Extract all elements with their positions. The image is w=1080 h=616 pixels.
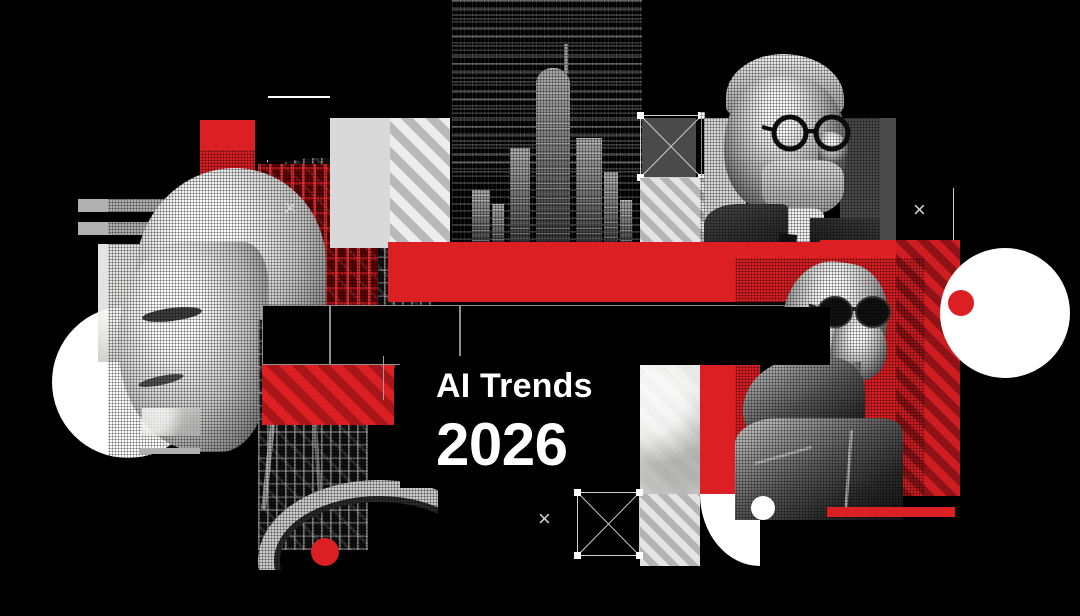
crop-marker-bottom-diagonals: [578, 493, 639, 555]
crop-marker-bottom-center: [577, 492, 640, 556]
x-marker-bottom-left: ×: [538, 508, 551, 530]
concrete-panel-right-of-title: [640, 364, 700, 494]
tower-spire: [564, 44, 568, 74]
gray-rule-bar-robot: [140, 448, 200, 454]
concrete-tile-robot-chin: [142, 408, 200, 436]
black-mask-bar-young-man: [640, 307, 830, 365]
tower-secondary: [576, 138, 602, 248]
crop-handle-bottom-bl[interactable]: [574, 552, 581, 559]
crop-handle-top-left[interactable]: [637, 112, 644, 119]
older-man-portrait: [700, 48, 880, 253]
page-title-primary: AI Trends: [436, 369, 640, 403]
stripe-block-red-left: [262, 365, 394, 425]
crop-handle-bottom-tl[interactable]: [574, 489, 581, 496]
red-dot-robot: [311, 538, 339, 566]
ai-trends-poster: ×: [0, 0, 1080, 616]
white-rule-top: [268, 96, 330, 98]
red-dot-accent: [948, 290, 974, 316]
white-rule-title-left: [383, 356, 384, 400]
tower-slim-left: [510, 148, 530, 248]
tower-short-a: [472, 190, 490, 248]
stripe-panel-center: [390, 118, 450, 248]
stripe-panel-lower-center: [640, 494, 700, 566]
cityscape-skyline: [452, 0, 642, 248]
crop-handle-bottom-tr[interactable]: [636, 489, 643, 496]
red-underline-bar: [827, 507, 955, 517]
tower-main: [536, 68, 570, 248]
crop-marker-top-right: [640, 115, 702, 178]
tower-slim-right: [604, 172, 618, 248]
x-marker-right: ×: [913, 199, 926, 221]
white-dot-small: [751, 496, 775, 520]
crop-handle-bottom-br[interactable]: [636, 552, 643, 559]
red-band-center: [388, 242, 718, 302]
stripe-panel-under-marker: [640, 178, 704, 248]
light-panel-center: [330, 118, 390, 248]
young-man-portrait: [735, 258, 925, 520]
glasses-icon: [762, 114, 858, 152]
tower-short-c: [620, 200, 632, 248]
black-bar-left: [262, 305, 330, 365]
page-title-year: 2026: [436, 415, 640, 475]
crop-marker-diagonals: [641, 116, 701, 177]
title-block: AI Trends 2026: [400, 356, 640, 488]
x-marker-circuit: ×: [284, 197, 297, 219]
